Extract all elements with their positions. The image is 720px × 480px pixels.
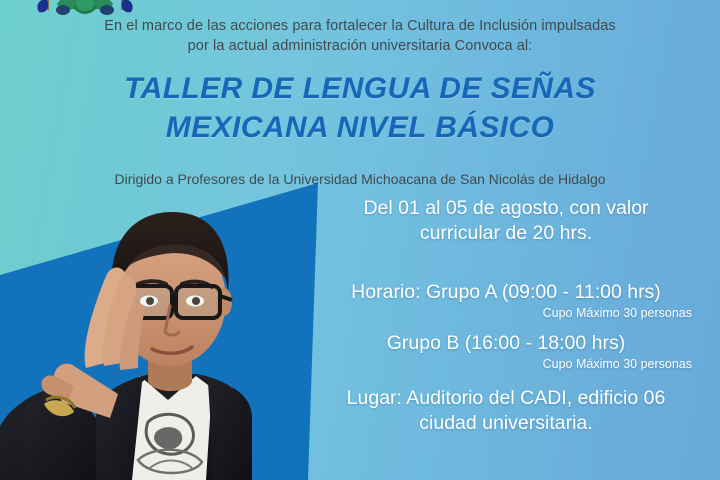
schedule-group-a: Horario: Grupo A (09:00 - 11:00 hrs) bbox=[306, 280, 706, 305]
dates-line-1: Del 01 al 05 de agosto, con valor bbox=[306, 196, 706, 221]
capacity-group-a: Cupo Máximo 30 personas bbox=[306, 305, 706, 321]
info-column: Del 01 al 05 de agosto, con valor curric… bbox=[306, 196, 706, 436]
university-crest-icon bbox=[33, 0, 137, 16]
venue-line-1: Lugar: Auditorio del CADI, edificio 06 bbox=[306, 386, 706, 411]
presenter-photo bbox=[0, 150, 340, 480]
spacer-3 bbox=[306, 372, 706, 386]
venue-line-2: ciudad universitaria. bbox=[306, 411, 706, 436]
poster-canvas: En el marco de las acciones para fortale… bbox=[0, 0, 720, 480]
spacer-2 bbox=[306, 321, 706, 331]
capacity-group-b: Cupo Máximo 30 personas bbox=[306, 356, 706, 372]
spacer-1 bbox=[306, 246, 706, 280]
dates-line-2: curricular de 20 hrs. bbox=[306, 221, 706, 246]
schedule-group-b: Grupo B (16:00 - 18:00 hrs) bbox=[306, 331, 706, 356]
